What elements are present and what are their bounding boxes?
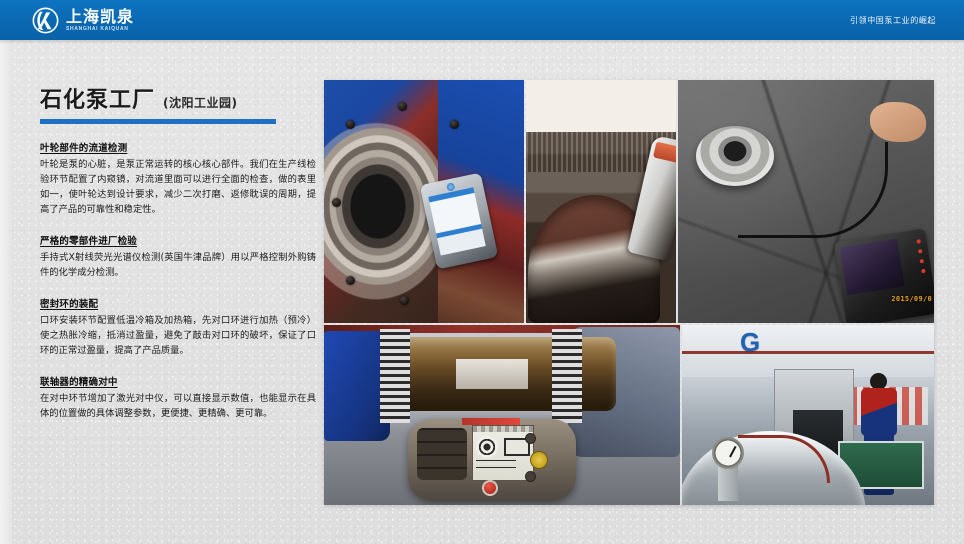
page-title-main: 石化泵工厂 bbox=[40, 82, 155, 114]
endoscope-led-icon bbox=[920, 259, 925, 264]
section-body: 口环安装环节配置低温冷箱及加热箱，先对口环进行加热（预冷）使之热胀冷缩，抵消过盈… bbox=[40, 313, 316, 358]
alignment-bracket bbox=[380, 329, 410, 423]
endoscope-device bbox=[834, 228, 934, 323]
gauge-neck bbox=[718, 465, 738, 501]
device-up-button bbox=[525, 433, 536, 444]
page-left-edge bbox=[0, 40, 12, 544]
collage-row-top: 2015/09/0 bbox=[324, 80, 934, 323]
section-body: 叶轮是泵的心脏，是泵正常运转的核心核心部件。我们在生产线检验环节配置了内窥镜，对… bbox=[40, 157, 316, 217]
worker-torso bbox=[861, 388, 897, 436]
section-heading: 叶轮部件的流道检测 bbox=[40, 140, 127, 154]
endoscope-led-icon bbox=[916, 239, 921, 244]
photo-collage: 2015/09/0 bbox=[324, 80, 934, 505]
device-keypad bbox=[417, 428, 467, 480]
device-lcd-screen bbox=[472, 425, 534, 481]
device-top-label bbox=[462, 418, 520, 425]
alignment-bracket bbox=[552, 329, 582, 423]
section-coupling-alignment: 联轴器的精确对中 在对中环节增加了激光对中仪，可以直接显示数值，也能显示在具体的… bbox=[40, 372, 316, 421]
brand-logo[interactable]: 上海凯泉 SHANGHAI KAIQUAN bbox=[32, 6, 134, 34]
brand-name-cn: 上海凯泉 bbox=[66, 9, 134, 25]
section-seal-ring-assembly: 密封环的装配 口环安装环节配置低温冷箱及加热箱，先对口环进行加热（预冷）使之热胀… bbox=[40, 294, 316, 358]
section-impeller-inspection: 叶轮部件的流道检测 叶轮是泵的心脏，是泵正常运转的核心核心部件。我们在生产线检验… bbox=[40, 138, 316, 217]
text-column: 石化泵工厂 (沈阳工业园) 叶轮部件的流道检测 叶轮是泵的心脏，是泵正常运转的核… bbox=[40, 82, 318, 422]
header-tagline: 引领中国泵工业的崛起 bbox=[850, 0, 936, 40]
endoscope-screen bbox=[840, 239, 905, 295]
section-heading: 严格的零部件进厂检验 bbox=[40, 233, 137, 247]
endoscope-led-icon bbox=[918, 249, 923, 254]
title-underline-rule bbox=[40, 119, 276, 124]
kaiquan-logo-icon bbox=[32, 7, 59, 34]
section-heading: 密封环的装配 bbox=[40, 296, 98, 310]
pressure-gauge bbox=[712, 437, 744, 469]
scanner-screen bbox=[428, 187, 485, 255]
page-title-sub: (沈阳工业园) bbox=[163, 94, 237, 111]
photo-laser-alignment bbox=[324, 325, 680, 505]
device-power-button bbox=[482, 480, 498, 496]
page-title: 石化泵工厂 (沈阳工业园) bbox=[40, 82, 318, 114]
collage-row-bottom: G bbox=[324, 325, 934, 505]
header-shadow bbox=[0, 40, 964, 44]
device-ok-button bbox=[530, 451, 548, 469]
endoscope-led-icon bbox=[921, 269, 926, 274]
flange-bolt bbox=[346, 276, 355, 285]
photo-flange-scanner bbox=[324, 80, 524, 323]
page-header: 上海凯泉 SHANGHAI KAIQUAN 引领中国泵工业的崛起 bbox=[0, 0, 964, 40]
section-body: 在对中环节增加了激光对中仪，可以直接显示数值，也能显示在具体的位置做的具体调整参… bbox=[40, 391, 316, 421]
endoscope-timestamp: 2015/09/0 bbox=[891, 295, 932, 303]
flange-bolt bbox=[398, 102, 407, 111]
flange-bolt bbox=[450, 120, 459, 129]
brand-name-en: SHANGHAI KAIQUAN bbox=[66, 27, 134, 32]
workshop-zone-sign: G bbox=[740, 327, 760, 358]
device-down-button bbox=[525, 471, 536, 482]
flange-bolt bbox=[346, 120, 355, 129]
operator-hand bbox=[870, 102, 926, 142]
laser-alignment-device bbox=[408, 419, 576, 501]
section-body: 手持式X射线荧光光谱仪检测(英国牛津品牌）用以严格控制外购铸件的化学成分检测。 bbox=[40, 250, 316, 280]
photo-endoscope: 2015/09/0 bbox=[678, 80, 934, 323]
section-incoming-inspection: 严格的零部件进厂检验 手持式X射线荧光光谱仪检测(英国牛津品牌）用以严格控制外购… bbox=[40, 231, 316, 280]
lcd-readout-values bbox=[476, 454, 516, 468]
section-heading: 联轴器的精确对中 bbox=[40, 374, 118, 388]
flange-bolt bbox=[400, 296, 409, 305]
photo-workshop: G bbox=[682, 325, 934, 505]
photo-xrf-gun bbox=[526, 80, 676, 323]
lcd-status-bar bbox=[473, 426, 533, 432]
flange-bolt bbox=[332, 198, 341, 207]
